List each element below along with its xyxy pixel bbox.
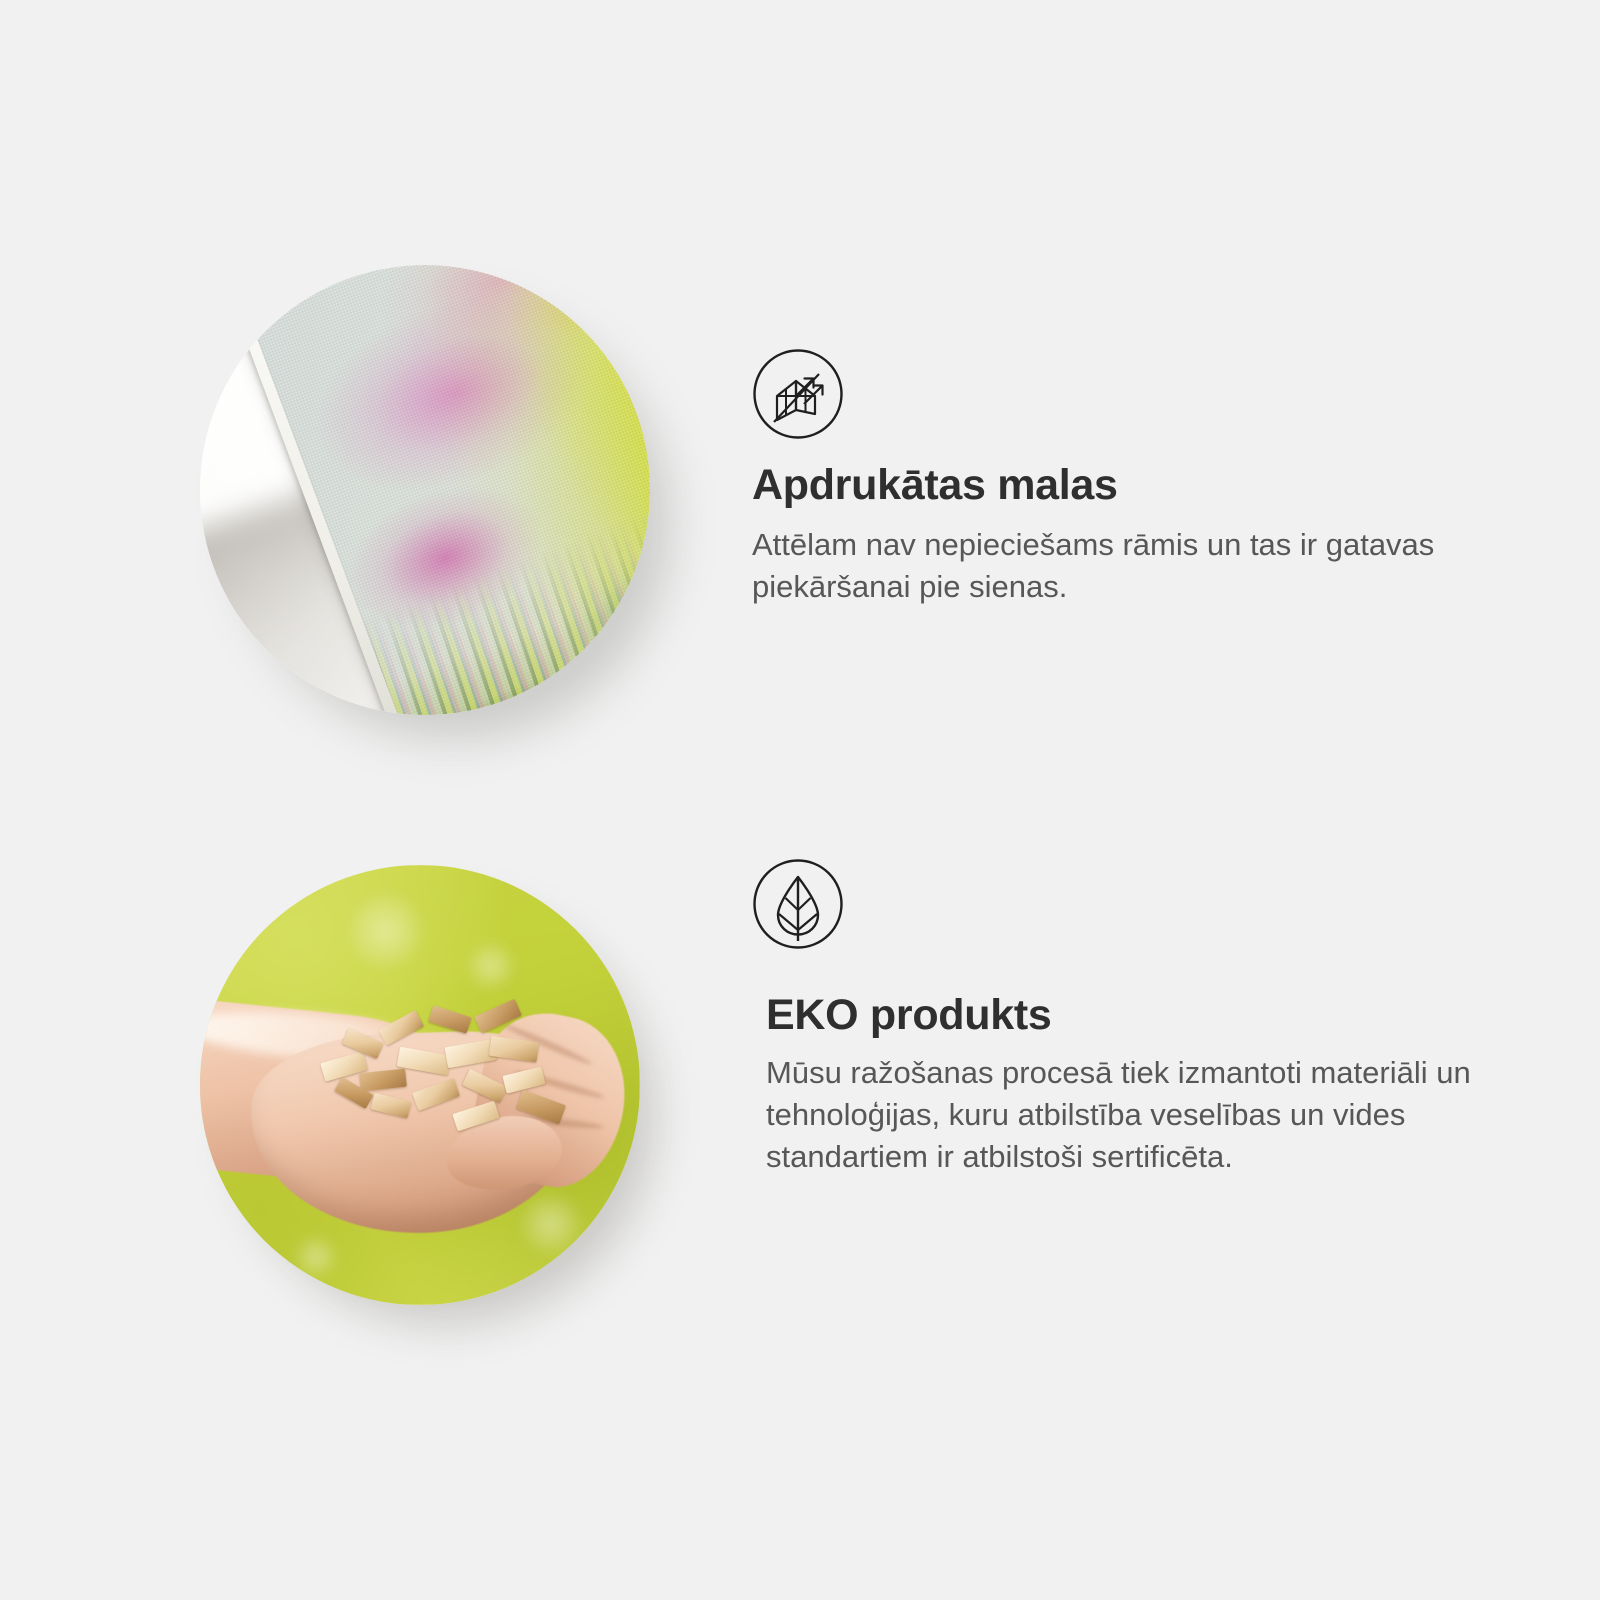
wood-chip — [412, 1078, 460, 1111]
wood-chip — [474, 999, 522, 1033]
promo-feature-page: Apdrukātas malas Attēlam nav nepieciešam… — [0, 0, 1600, 1600]
bokeh-highlight — [468, 943, 514, 989]
wood-chip — [452, 1101, 499, 1132]
bokeh-highlight — [522, 1195, 580, 1253]
wood-chip-pile — [318, 993, 568, 1143]
eco-icon-wrap — [752, 858, 844, 950]
eco-title: EKO produkts — [766, 993, 1496, 1038]
wood-chip — [378, 1010, 424, 1046]
feature-block-eco-product: EKO produkts Mūsu ražošanas procesā tiek… — [0, 0, 1600, 1600]
eco-description: Mūsu ražošanas procesā tiek izmantoti ma… — [766, 1052, 1478, 1178]
wood-chip — [428, 1005, 471, 1034]
wood-chip — [359, 1069, 407, 1092]
eco-wood-chips-image — [200, 865, 640, 1305]
bokeh-highlight — [296, 1237, 336, 1277]
bokeh-highlight — [350, 895, 422, 967]
wood-chip — [516, 1090, 566, 1125]
wood-chip — [462, 1069, 508, 1104]
wood-chip — [371, 1093, 412, 1119]
eco-text-column: EKO produkts Mūsu ražošanas procesā tiek… — [766, 993, 1496, 1178]
leaf-icon — [752, 858, 844, 950]
